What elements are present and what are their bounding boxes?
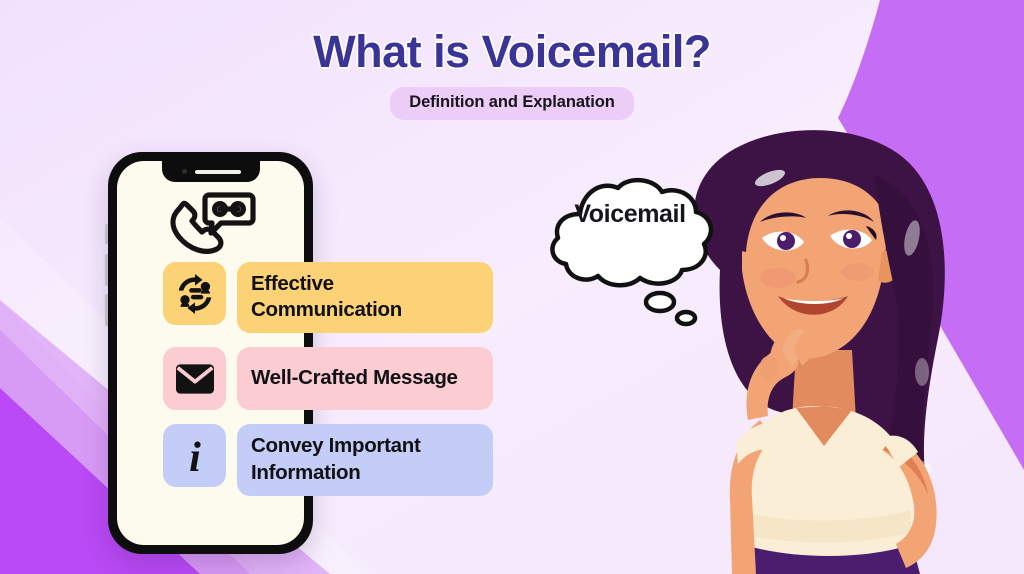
blush-left <box>760 268 796 288</box>
phone-mute-button[interactable] <box>105 224 108 244</box>
feature-label: Effective Communication <box>237 262 493 333</box>
eye-left-iris <box>777 232 795 250</box>
feature-item-well-crafted-message[interactable]: Well-Crafted Message <box>163 347 493 410</box>
feature-item-effective-communication[interactable]: Effective Communication <box>163 262 493 333</box>
hair-highlight-3 <box>915 358 929 386</box>
eye-right-iris <box>843 230 861 248</box>
exchange-arrows-icon <box>175 274 215 314</box>
eye-left-highlight <box>780 235 786 241</box>
header: What is Voicemail? Definition and Explan… <box>0 26 1024 120</box>
feature-list: Effective Communication Well-Crafted Mes… <box>163 262 493 510</box>
feature-label: Convey Important Information <box>237 424 493 495</box>
feature-label: Well-Crafted Message <box>237 347 493 410</box>
thought-bubble-shape <box>540 152 740 327</box>
blush-right <box>842 263 874 281</box>
eye-right-highlight <box>846 233 852 239</box>
speaker-grille <box>195 170 241 174</box>
infographic-canvas: What is Voicemail? Definition and Explan… <box>0 0 1024 574</box>
voicemail-icon <box>165 189 257 263</box>
svg-text:i: i <box>189 435 201 478</box>
thought-bubble: Voicemail <box>540 152 740 332</box>
camera-icon <box>181 168 188 175</box>
phone-volume-down-button[interactable] <box>105 294 108 326</box>
envelope-icon <box>163 347 226 410</box>
phone-volume-up-button[interactable] <box>105 254 108 286</box>
phone-notch <box>162 161 260 182</box>
page-title: What is Voicemail? <box>0 26 1024 78</box>
feature-item-convey-important-information[interactable]: i Convey Important Information <box>163 424 493 495</box>
subtitle-badge: Definition and Explanation <box>390 87 634 120</box>
envelope-glyph-icon <box>176 364 214 394</box>
info-glyph-icon: i <box>178 434 212 478</box>
info-icon: i <box>163 424 226 487</box>
communication-exchange-icon <box>163 262 226 325</box>
